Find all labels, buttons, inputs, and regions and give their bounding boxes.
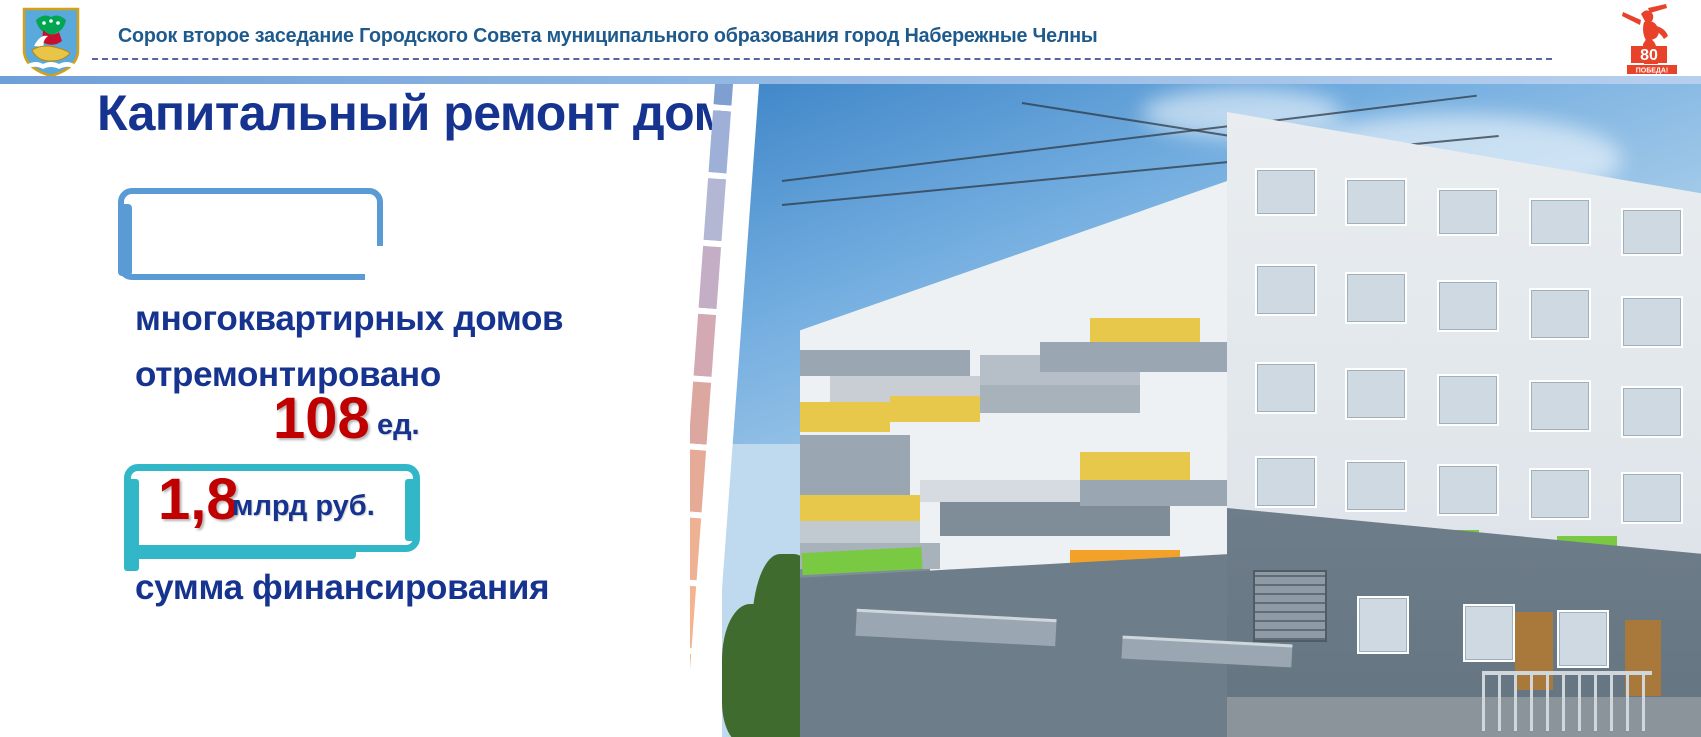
railing [1482, 671, 1652, 731]
window [1621, 296, 1683, 348]
facade-tile [800, 350, 970, 376]
window [1463, 604, 1515, 662]
window [1357, 596, 1409, 654]
stat-caption-houses-line1: многоквартирных домов [135, 299, 563, 339]
header-accent-bar [0, 76, 1701, 84]
window-grill [1253, 570, 1327, 642]
facade-tile [920, 480, 1080, 502]
window [1437, 464, 1499, 516]
facade-tile [890, 396, 980, 422]
coat-of-arms-icon [20, 6, 82, 78]
stat-value-funding: 1,8 [158, 466, 239, 533]
facade-tile [800, 495, 920, 521]
window [1529, 288, 1591, 340]
stat-caption-houses-line2: отремонтировано [135, 355, 441, 395]
window [1255, 456, 1317, 508]
facade-tile [1080, 452, 1190, 480]
window [1557, 610, 1609, 668]
window [1345, 460, 1407, 512]
color-swatch [690, 517, 725, 582]
page-header: Сорок второе заседание Городского Совета… [0, 0, 1701, 80]
window [1255, 362, 1317, 414]
facade-tile [1080, 480, 1230, 506]
page-title: Капитальный ремонт домов [97, 84, 790, 142]
window [1437, 188, 1499, 236]
stat-unit-houses: ед. [377, 409, 420, 442]
window [1345, 178, 1407, 226]
window [1529, 380, 1591, 432]
facade-tile [940, 502, 1170, 536]
header-divider [92, 58, 1552, 60]
window [1345, 368, 1407, 420]
tree-shape [722, 604, 792, 737]
window [1345, 272, 1407, 324]
window [1529, 198, 1591, 246]
stat-unit-funding: млрд руб. [232, 490, 375, 523]
window [1621, 386, 1683, 438]
facade-tile [980, 385, 1140, 413]
victory-80-logo: 80 ПОБЕДА! [1611, 2, 1683, 76]
color-swatch [690, 647, 716, 656]
color-swatch [690, 511, 726, 520]
color-swatch [690, 579, 721, 588]
color-swatch [690, 653, 715, 737]
stat-caption-funding-line1: сумма финансирования [135, 568, 549, 608]
stat-frame-funding-foot [124, 545, 356, 559]
victory-word: ПОБЕДА! [1636, 68, 1669, 75]
window [1437, 280, 1499, 332]
facade-tile [800, 435, 910, 495]
stat-value-houses: 108 [273, 385, 370, 452]
building-photo [722, 84, 1701, 737]
color-swatch [690, 585, 720, 650]
stat-block-houses: 108 ед. [118, 188, 383, 280]
window [1529, 468, 1591, 520]
facade-tile [1040, 342, 1230, 372]
window [1621, 208, 1683, 256]
window [1255, 168, 1317, 216]
facade-tile [800, 521, 920, 543]
window [1437, 374, 1499, 426]
victory-number: 80 [1640, 47, 1658, 64]
facade-tile [800, 402, 890, 432]
header-title: Сорок второе заседание Городского Совета… [118, 24, 1098, 48]
window [1621, 472, 1683, 524]
window [1255, 264, 1317, 316]
